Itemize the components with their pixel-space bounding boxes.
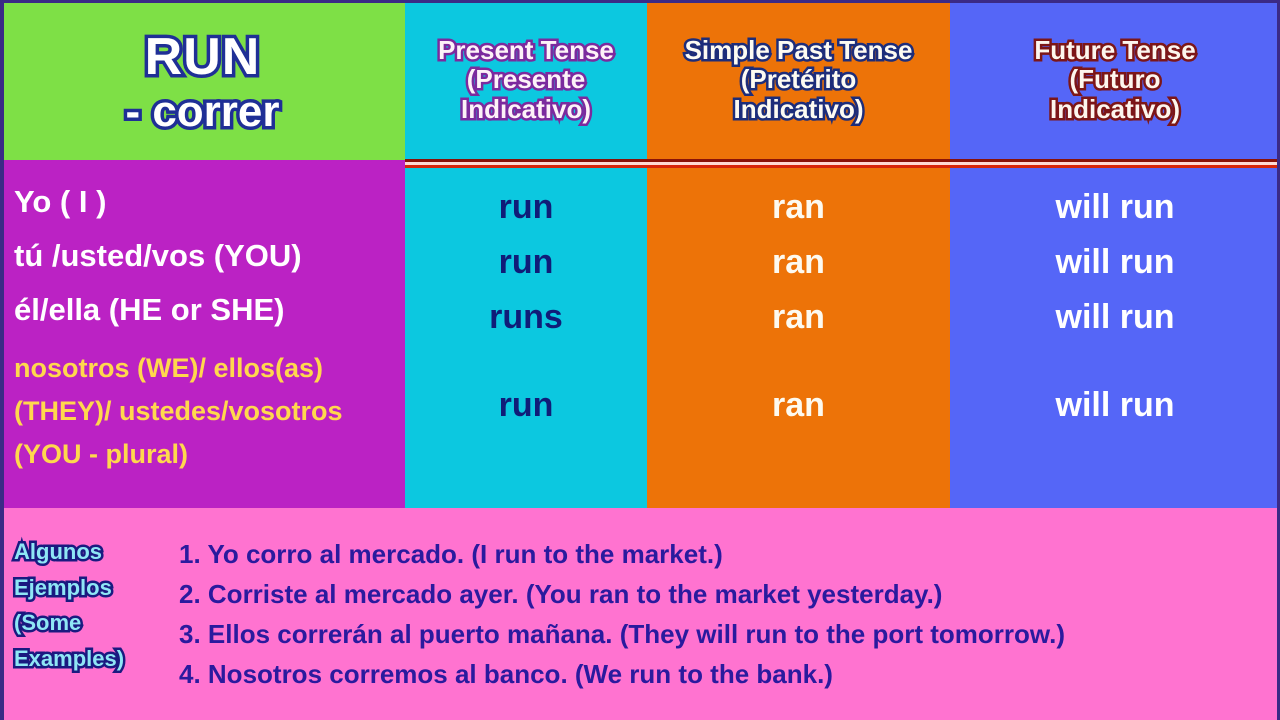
cell-future-conjugations: will run will run will run will run [950,160,1280,508]
header-future-spanish-1: (Futuro [1034,65,1195,95]
conjugation-table: RUN - correr Yo ( I ) tú /usted/vos (YOU… [0,0,1280,508]
header-future-spanish-2: Indicativo) [1034,95,1195,125]
examples-label-line-2: Ejemplos [14,570,175,606]
present-plural: run [405,388,647,422]
future-yo: will run [950,190,1280,224]
conjugation-chart: RUN - correr Yo ( I ) tú /usted/vos (YOU… [0,0,1280,720]
header-present-tense: Present Tense (Presente Indicativo) [405,0,647,160]
future-el-ella: will run [950,300,1280,334]
pronoun-yo: Yo ( I ) [14,186,405,217]
present-yo: run [405,190,647,224]
cell-present-conjugations: run run runs run [405,160,647,508]
header-past-english: Simple Past Tense [685,36,913,66]
header-present-text: Present Tense (Presente Indicativo) [434,36,618,125]
past-el-ella: ran [647,300,950,334]
frame-edge-top [0,0,1280,3]
example-item-2: 2. Corriste al mercado ayer. (You ran to… [179,574,1280,614]
header-divider-line [405,159,1280,168]
present-conjugation-list: run run runs run [405,160,647,508]
examples-list: 1. Yo corro al mercado. (I run to the ma… [175,508,1280,694]
example-item-4: 4. Nosotros corremos al banco. (We run t… [179,654,1280,694]
column-future-tense: Future Tense (Futuro Indicativo) will ru… [950,0,1280,508]
past-tu: ran [647,245,950,279]
header-past-tense: Simple Past Tense (Pretérito Indicativo) [647,0,950,160]
future-tu: will run [950,245,1280,279]
column-present-tense: Present Tense (Presente Indicativo) run … [405,0,647,508]
header-present-english: Present Tense [438,36,614,66]
future-plural: will run [950,388,1280,422]
past-plural: ran [647,388,950,422]
pronoun-el-ella: él/ella (HE or SHE) [14,294,405,325]
verb-spanish: - correr [125,88,279,136]
past-conjugation-list: ran ran ran ran [647,160,950,508]
verb-english: RUN [145,30,261,85]
column-past-tense: Simple Past Tense (Pretérito Indicativo)… [647,0,950,508]
pronoun-plural-line-1: nosotros (WE)/ ellos(as) [14,355,405,382]
header-future-tense: Future Tense (Futuro Indicativo) [950,0,1280,160]
pronoun-tu: tú /usted/vos (YOU) [14,240,405,271]
future-conjugation-list: will run will run will run will run [950,160,1280,508]
header-past-spanish-1: (Pretérito [685,65,913,95]
examples-label: Algunos Ejemplos (Some Examples) [0,508,175,677]
past-yo: ran [647,190,950,224]
pronoun-list: Yo ( I ) tú /usted/vos (YOU) él/ella (HE… [0,160,405,508]
header-past-text: Simple Past Tense (Pretérito Indicativo) [681,36,917,125]
pronoun-plural-line-3: (YOU - plural) [14,441,405,468]
column-pronouns: RUN - correr Yo ( I ) tú /usted/vos (YOU… [0,0,405,508]
present-tu: run [405,245,647,279]
pronoun-plural-line-2: (THEY)/ ustedes/vosotros [14,398,405,425]
examples-label-line-4: Examples) [14,641,175,677]
pronoun-plural-group: nosotros (WE)/ ellos(as) (THEY)/ ustedes… [14,355,405,468]
header-past-spanish-2: Indicativo) [685,95,913,125]
header-future-english: Future Tense [1034,36,1195,66]
pronoun-cell: Yo ( I ) tú /usted/vos (YOU) él/ella (HE… [0,160,405,508]
header-present-spanish-2: Indicativo) [438,95,614,125]
frame-edge-left [0,0,4,720]
example-item-3: 3. Ellos correrán al puerto mañana. (The… [179,614,1280,654]
verb-title: RUN - correr [0,24,405,137]
header-present-spanish-1: (Presente [438,65,614,95]
examples-label-line-1: Algunos [14,534,175,570]
header-future-text: Future Tense (Futuro Indicativo) [1030,36,1199,125]
examples-label-line-3: (Some [14,605,175,641]
present-el-ella: runs [405,300,647,334]
examples-section: Algunos Ejemplos (Some Examples) 1. Yo c… [0,508,1280,720]
cell-past-conjugations: ran ran ran ran [647,160,950,508]
verb-title-cell: RUN - correr [0,0,405,160]
example-item-1: 1. Yo corro al mercado. (I run to the ma… [179,534,1280,574]
